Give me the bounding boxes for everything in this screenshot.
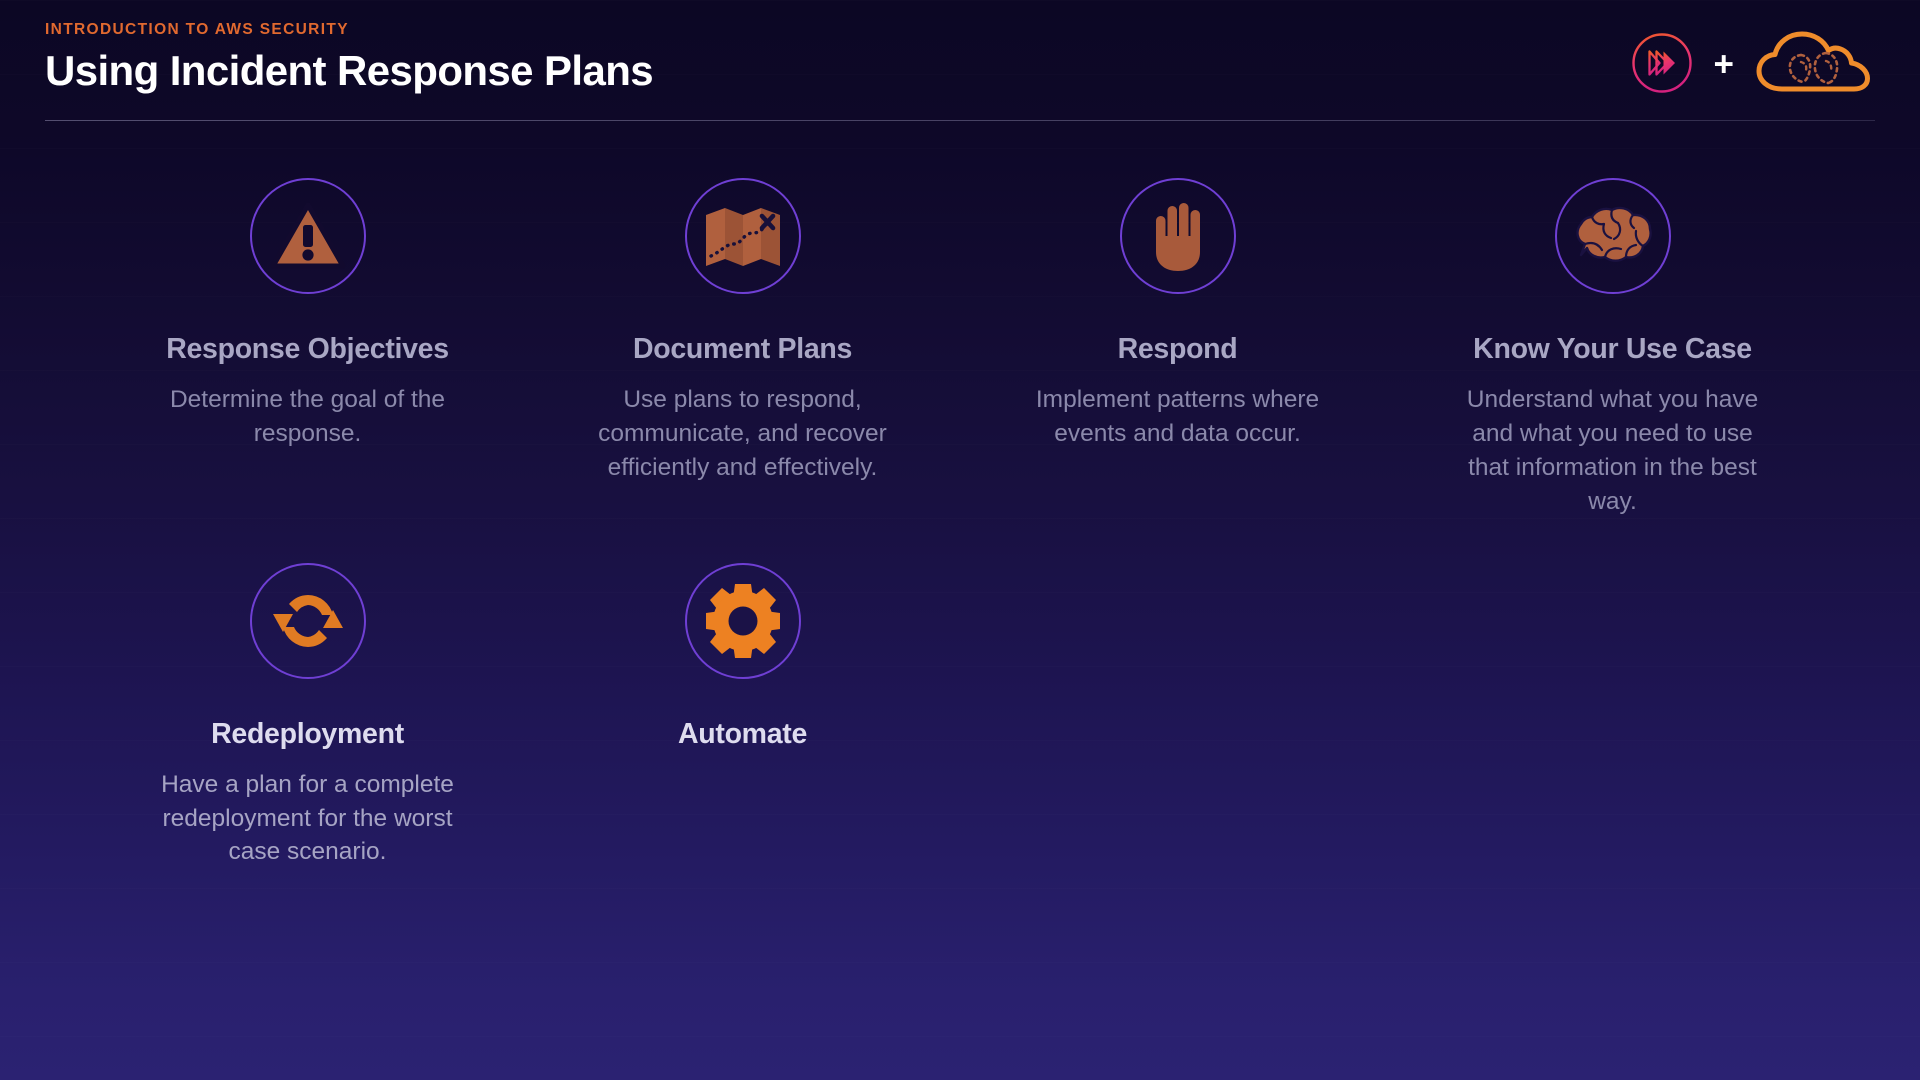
- warning-triangle-icon: [250, 178, 366, 294]
- card-respond: Respond Implement patterns where events …: [960, 178, 1395, 519]
- header-divider: [45, 120, 1875, 121]
- folded-map-icon: [685, 178, 801, 294]
- slide: INTRODUCTION TO AWS SECURITY Using Incid…: [0, 0, 1920, 1080]
- card-title: Redeployment: [211, 719, 404, 750]
- card-redeployment: Redeployment Have a plan for a complete …: [90, 563, 525, 870]
- card-title: Response Objectives: [166, 334, 449, 365]
- card-title: Document Plans: [633, 334, 852, 365]
- card-title: Know Your Use Case: [1473, 334, 1752, 365]
- raised-hand-icon: [1120, 178, 1236, 294]
- card-document-plans: Document Plans Use plans to respond, com…: [525, 178, 960, 519]
- logo-group: +: [1630, 30, 1876, 96]
- card-description: Implement patterns where events and data…: [1028, 383, 1328, 451]
- card-description: Determine the goal of the response.: [158, 383, 458, 451]
- brain-icon: [1555, 178, 1671, 294]
- plus-separator: +: [1714, 47, 1734, 82]
- concept-card-grid: Response Objectives Determine the goal o…: [90, 178, 1830, 869]
- slide-header: INTRODUCTION TO AWS SECURITY Using Incid…: [0, 0, 1920, 128]
- card-description: Understand what you have and what you ne…: [1463, 383, 1763, 518]
- refresh-cycle-icon: [250, 563, 366, 679]
- card-title: Automate: [678, 719, 807, 750]
- card-response-objectives: Response Objectives Determine the goal o…: [90, 178, 525, 519]
- card-know-your-use-case: Know Your Use Case Understand what you h…: [1395, 178, 1830, 519]
- card-description: Use plans to respond, communicate, and r…: [593, 383, 893, 484]
- card-description: Have a plan for a complete redeployment …: [158, 768, 458, 869]
- gear-icon: [685, 563, 801, 679]
- page-title: Using Incident Response Plans: [45, 49, 653, 94]
- pluralsight-play-logo: [1630, 31, 1694, 95]
- card-title: Respond: [1118, 334, 1238, 365]
- card-automate: Automate: [525, 563, 960, 870]
- header-text-block: INTRODUCTION TO AWS SECURITY Using Incid…: [45, 22, 653, 93]
- aws-cloud-brain-logo: [1754, 30, 1872, 96]
- course-eyebrow-label: INTRODUCTION TO AWS SECURITY: [45, 22, 653, 38]
